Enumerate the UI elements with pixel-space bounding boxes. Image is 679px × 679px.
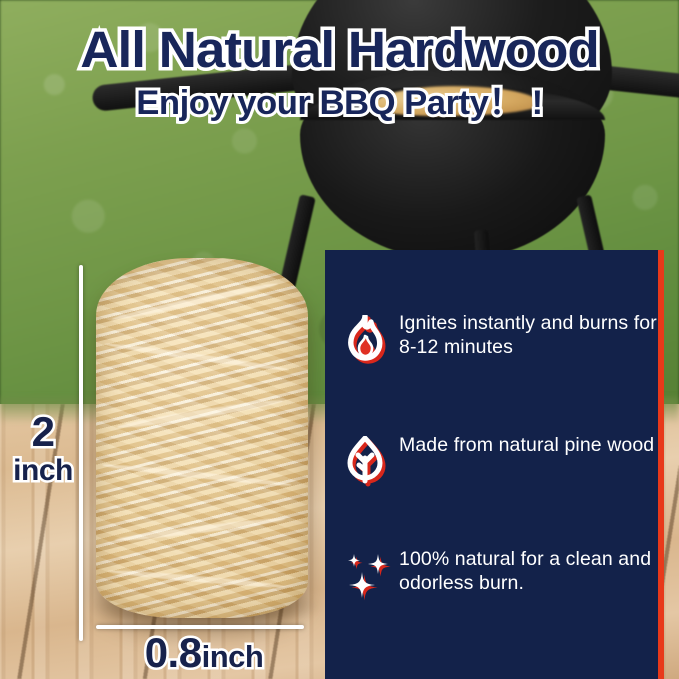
- page-title: All Natural Hardwood: [0, 26, 679, 75]
- height-measure-line: [79, 265, 83, 641]
- product-infographic: All Natural Hardwood Enjoy your BBQ Part…: [0, 0, 679, 679]
- height-dimension-label: 2 inch: [10, 411, 76, 486]
- width-value: 0.8: [145, 629, 202, 676]
- height-value: 2: [10, 411, 76, 453]
- width-unit: inch: [202, 639, 264, 674]
- fire-starter-bundle: [96, 258, 308, 618]
- page-subtitle: Enjoy your BBQ Party！ !: [0, 86, 679, 120]
- sparkles-icon: [325, 546, 399, 606]
- height-unit: inch: [10, 456, 76, 486]
- width-dimension-label: 0.8inch: [104, 632, 304, 674]
- feature-text: 100% natural for a clean and odorless bu…: [399, 546, 663, 596]
- feature-text: Ignites instantly and burns for 8-12 min…: [399, 310, 663, 360]
- feature-item: Ignites instantly and burns for 8-12 min…: [325, 310, 663, 370]
- feature-panel: Ignites instantly and burns for 8-12 min…: [325, 250, 663, 679]
- feature-text: Made from natural pine wood: [399, 432, 654, 458]
- flame-icon: [325, 310, 399, 370]
- leaf-icon: [325, 432, 399, 492]
- feature-item: 100% natural for a clean and odorless bu…: [325, 546, 663, 606]
- feature-item: Made from natural pine wood: [325, 432, 663, 492]
- panel-accent-stripe: [658, 250, 664, 679]
